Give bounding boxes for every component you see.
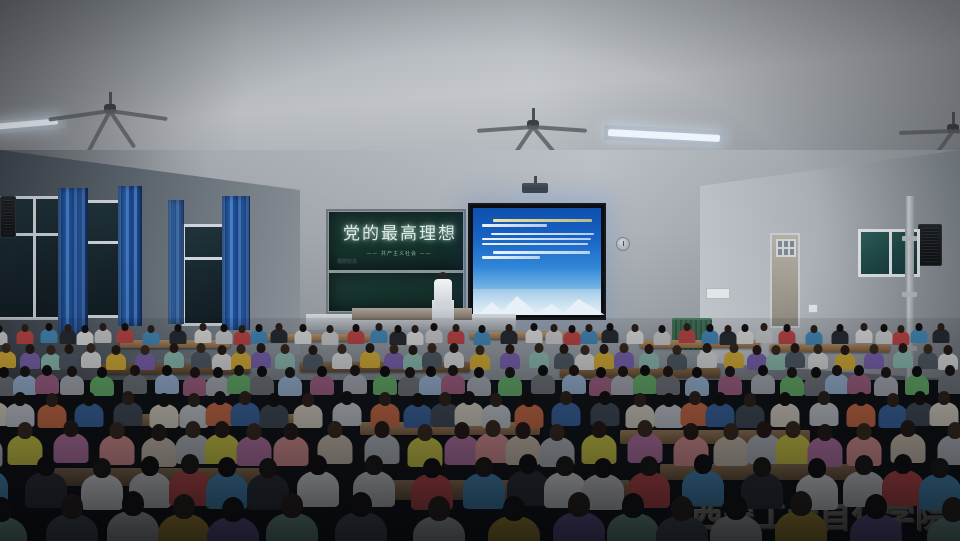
audience-member-torso [17, 330, 34, 344]
audience-member-torso [653, 331, 670, 345]
audience-member-head [772, 345, 781, 355]
audience-member [607, 493, 659, 541]
audience-member-head [453, 324, 460, 332]
audience-member-head [818, 424, 833, 441]
blackboard-title: 党的最高理想 [337, 226, 463, 243]
audience-member [488, 496, 540, 541]
lecturer-body [434, 279, 452, 306]
audience-member-head [899, 343, 908, 353]
audience-member-head [405, 367, 415, 378]
audience-member-head [855, 455, 873, 475]
audience-member-head [753, 457, 771, 477]
audience-member-head [338, 344, 347, 354]
slide-text-block [482, 219, 594, 261]
audience-member [525, 323, 542, 345]
audience-member-head [944, 345, 953, 355]
audience-member-torso [563, 331, 580, 345]
audience-member-head [141, 345, 150, 355]
audience-member-torso [40, 329, 57, 343]
audience-member-torso [407, 331, 424, 345]
audience-member-head [725, 366, 735, 377]
audience-member [932, 323, 949, 345]
audience-member-head [122, 391, 134, 405]
audience-member-torso [95, 329, 112, 343]
audience-member-head [26, 344, 35, 354]
audience-member [876, 324, 893, 346]
audience-member-torso [581, 330, 598, 344]
audience-member-torso [932, 329, 949, 343]
audience-member [656, 496, 708, 541]
audience-member-torso [626, 330, 643, 344]
audience-member-head [185, 421, 200, 438]
window-curtain [118, 186, 142, 326]
audience-member-torso [155, 374, 179, 394]
audience-member-head [162, 365, 172, 376]
audience-member-head [594, 458, 612, 478]
audience-member-head [761, 323, 768, 331]
audience-member-torso [552, 402, 581, 426]
audience-member [553, 492, 605, 541]
audience-member-head [706, 324, 713, 332]
audience-member-head [100, 323, 107, 331]
audience-member-head [256, 324, 263, 332]
audience-member-head [122, 323, 129, 331]
audience-member-head [423, 458, 441, 478]
audience-member-head [840, 345, 849, 355]
audience-member-head [870, 344, 879, 354]
lecture-hall-photo: 党的最高理想 —— 共产主义社会 —— 理想信念 [0, 0, 960, 541]
audience-member-head [912, 366, 922, 377]
audience-member-head [86, 343, 95, 353]
audience-member-head [818, 391, 830, 405]
audience-member [117, 323, 134, 345]
audience-member-head [894, 454, 912, 474]
audience-member-head [65, 324, 72, 332]
audience-member-head [519, 454, 537, 474]
audience-member-head [93, 458, 111, 478]
audience-member-head [534, 343, 543, 353]
audience-member-head [474, 367, 484, 378]
blackboard-subtitle: —— 共产主义社会 —— [329, 250, 469, 257]
audience-member-head [596, 367, 606, 378]
audience-member-head [64, 420, 79, 437]
audience-member [60, 324, 77, 346]
audience-member-head [634, 393, 646, 407]
audience-member-head [239, 391, 251, 405]
audience-member [633, 365, 657, 396]
audience-member-head [881, 367, 891, 378]
audience-member [425, 323, 442, 345]
audience-member [40, 323, 57, 345]
audience-member-torso [876, 330, 893, 344]
audience-member-head [418, 424, 433, 441]
audience-member-head [856, 423, 871, 440]
audience-member-head [523, 393, 535, 407]
audience-member-head [569, 365, 579, 376]
audience-member-head [837, 324, 844, 332]
audience-member [142, 325, 159, 347]
audience-member-head [380, 366, 390, 377]
audience-member [407, 325, 424, 347]
audience-member-head [887, 393, 899, 407]
audience-member-head [409, 345, 418, 355]
audience-member-head [45, 323, 52, 331]
audience-member-head [14, 392, 26, 406]
wall-speaker-right [918, 224, 942, 266]
lecturer [434, 272, 452, 306]
audience-member-head [673, 345, 682, 355]
audience-member-head [257, 343, 266, 353]
audience-member-head [694, 454, 712, 474]
audience-member [46, 494, 98, 541]
audience-member-head [122, 491, 144, 516]
audience-member-torso [191, 351, 211, 368]
audience-member-torso [251, 330, 268, 344]
audience-member-head [702, 343, 711, 353]
audience-member-head [350, 492, 372, 517]
audience-member-head [238, 325, 245, 333]
audience-member [371, 323, 388, 345]
audience-member [215, 324, 232, 346]
audience-member-head [268, 393, 280, 407]
audience-member-head [586, 324, 593, 332]
audience-member-head [341, 391, 353, 405]
audience-member-head [556, 456, 574, 476]
audience-member [413, 496, 465, 541]
audience-member-head [302, 393, 314, 407]
audience-member-torso [348, 330, 365, 344]
audience-member [158, 494, 210, 541]
audience-member-head [199, 323, 206, 331]
audience-member-head [173, 494, 195, 519]
audience-member-head [257, 366, 267, 377]
audience-member [191, 343, 211, 370]
audience-member-head [276, 323, 283, 331]
audience-member-head [188, 393, 200, 407]
audience-member [335, 492, 387, 541]
audience-member-head [308, 345, 317, 355]
audience-member-head [684, 323, 691, 331]
audience-member-head [855, 392, 867, 406]
audience-member-head [640, 456, 658, 476]
audience-member-head [779, 392, 791, 406]
audience-member-head [448, 365, 458, 376]
audience-member-torso [701, 330, 718, 344]
audience-member-head [215, 421, 230, 438]
audience-member-head [450, 343, 459, 353]
audience-member [785, 343, 805, 370]
wall-switch-panel [808, 304, 818, 313]
audience-member-head [463, 391, 475, 405]
audience-member-head [505, 367, 515, 378]
audience-member-head [476, 345, 485, 355]
audience-member-head [174, 324, 181, 332]
audience-member-head [213, 367, 223, 378]
audience-member-head [46, 393, 58, 407]
audience-member [850, 494, 902, 541]
audience-member [927, 497, 960, 541]
audience-member-head [18, 422, 33, 439]
audience-member-head [600, 344, 609, 354]
audience-member-head [640, 365, 650, 376]
audience-member-torso [169, 330, 186, 344]
audience-member-torso [633, 374, 657, 394]
audience-member-head [82, 325, 89, 333]
audience-member-head [366, 343, 375, 353]
audience-area [0, 318, 960, 541]
audience-member [107, 491, 159, 541]
audience-member-torso [856, 329, 873, 343]
audience-member-torso [474, 331, 491, 345]
audience-member-head [130, 365, 140, 376]
audience-member-head [220, 324, 227, 332]
audience-member-head [644, 344, 653, 354]
audience-member-head [881, 324, 888, 332]
audience-member-head [147, 325, 154, 333]
audience-member-head [786, 421, 801, 438]
audience-member-head [190, 367, 200, 378]
audience-member [295, 324, 312, 346]
audience-member-head [505, 344, 514, 354]
window-curtain [222, 196, 250, 330]
audience-member-head [218, 345, 227, 355]
ceiling-projector [522, 183, 548, 193]
audience-member-head [538, 365, 548, 376]
audience-member-head [412, 325, 419, 333]
wall-notice-box [706, 288, 730, 299]
audience-member-head [327, 421, 342, 438]
door-window-grid [776, 239, 796, 257]
audience-member-torso [697, 351, 717, 368]
audience-member-head [2, 343, 11, 353]
audience-member-head [854, 365, 864, 376]
audience-member-head [196, 343, 205, 353]
audience-member-head [942, 497, 960, 522]
audience-member-head [631, 324, 638, 332]
audience-member-head [663, 393, 675, 407]
audience-member-head [309, 455, 327, 475]
audience-member-head [581, 345, 590, 355]
audience-member-torso [847, 374, 871, 394]
audience-member-head [439, 392, 451, 406]
projected-slide [473, 208, 601, 315]
audience-member-head [37, 456, 55, 476]
classroom-door[interactable] [770, 233, 800, 328]
audience-member-head [568, 492, 590, 517]
audience-member-head [158, 393, 170, 407]
audience-member-head [752, 345, 761, 355]
audience-member-head [560, 344, 569, 354]
audience-member-head [283, 423, 298, 440]
audience-member-torso [194, 329, 211, 343]
audience-member-head [300, 324, 307, 332]
audience-member-head [516, 422, 531, 439]
audience-member-head [606, 323, 613, 331]
audience-member-head [237, 344, 246, 354]
audience-member-head [813, 344, 822, 354]
audience-member-head [46, 345, 55, 355]
audience-member-head [376, 323, 383, 331]
audience-member-head [725, 495, 747, 520]
audience-member-head [811, 367, 821, 378]
audience-member-head [923, 344, 932, 354]
audience-member-torso [60, 330, 77, 344]
audience-member-torso [751, 374, 775, 394]
audience-member-head [671, 496, 693, 521]
wall-speaker-left [0, 196, 16, 238]
audience-member-head [110, 422, 125, 439]
audience-member-head [170, 343, 179, 353]
audience-member-head [725, 325, 732, 333]
slide-mountain-image [473, 289, 601, 315]
audience-member-head [791, 343, 800, 353]
audience-member-head [551, 324, 558, 332]
audience-member-head [937, 323, 944, 331]
audience-member [832, 324, 849, 346]
audience-member-head [620, 343, 629, 353]
audience-member-head [861, 323, 868, 331]
audience-member [775, 491, 827, 541]
audience-member-head [638, 420, 653, 437]
audience-member-head [479, 325, 486, 333]
audience-member-head [486, 420, 501, 437]
audience-member [581, 324, 598, 346]
audience-member-head [151, 424, 166, 441]
audience-member-head [560, 391, 572, 405]
audience-member-torso [679, 329, 696, 343]
audience-member-head [181, 454, 199, 474]
projection-screen [468, 203, 606, 320]
audience-member-head [898, 325, 905, 333]
audience-member [194, 323, 211, 345]
audience-member-head [787, 367, 797, 378]
audience-member-head [938, 391, 950, 405]
audience-member-head [97, 367, 107, 378]
audience-member [756, 323, 773, 345]
audience-member-head [914, 391, 926, 405]
audience-member-head [42, 365, 52, 376]
audience-member-head [112, 345, 121, 355]
audience-member-head [530, 323, 537, 331]
audience-member-head [353, 324, 360, 332]
audience-member-head [475, 457, 493, 477]
audience-member-torso [233, 331, 250, 345]
audience-member-head [259, 458, 277, 478]
audience-member-head [83, 392, 95, 406]
audience-member-head [365, 455, 383, 475]
audience-member-head [428, 343, 437, 353]
audience-member-head [285, 367, 295, 378]
audience-member-torso [448, 330, 465, 344]
audience-member-head [916, 323, 923, 331]
audience-member-head [714, 392, 726, 406]
audience-member-torso [756, 329, 773, 343]
audience-member-head [503, 496, 525, 521]
audience-member-head [901, 420, 916, 437]
audience-member-torso [832, 330, 849, 344]
audience-member-head [931, 458, 949, 478]
audience-member-head [218, 457, 236, 477]
audience-member-head [65, 344, 74, 354]
audience-member-torso [35, 374, 59, 394]
audience-member-torso [805, 331, 822, 345]
audience-member-head [490, 393, 502, 407]
audience-member-head [234, 365, 244, 376]
audience-member-head [689, 391, 701, 405]
audience-member-head [214, 391, 226, 405]
audience-member-head [67, 366, 77, 377]
wall-clock [616, 237, 630, 251]
audience-member-head [744, 393, 756, 407]
audience-member-head [430, 323, 437, 331]
audience-member-torso [546, 330, 563, 344]
audience-member-head [742, 324, 749, 332]
audience-member-head [622, 493, 644, 518]
audience-member-head [756, 421, 771, 438]
audience-member [35, 365, 59, 396]
audience-member-head [246, 423, 261, 440]
audience-member-torso [295, 330, 312, 344]
audience-member [266, 493, 318, 541]
audience-member-head [281, 493, 303, 518]
audience-member-head [506, 324, 513, 332]
audience-member-torso [371, 329, 388, 343]
audience-member-head [618, 366, 628, 377]
audience-member-head [426, 366, 436, 377]
audience-member [271, 323, 288, 345]
audience-member [501, 324, 518, 346]
audience-member-head [141, 456, 159, 476]
audience-member-head [379, 392, 391, 406]
audience-member-torso [271, 329, 288, 343]
blackboard-upper-panel: 党的最高理想 —— 共产主义社会 —— 理想信念 [329, 212, 463, 270]
audience-member [697, 343, 717, 370]
window-curtain [58, 188, 88, 334]
audience-member-head [599, 391, 611, 405]
audience-member-torso [785, 351, 805, 368]
audience-member-torso [425, 329, 442, 343]
audience-member-head [692, 367, 702, 378]
audience-member-head [784, 324, 791, 332]
audience-member-head [350, 365, 360, 376]
audience-member [679, 323, 696, 345]
audience-member-head [790, 491, 812, 516]
audience-member-head [568, 325, 575, 333]
audience-member-head [683, 423, 698, 440]
audience-member-torso [601, 329, 618, 343]
audience-member-head [61, 494, 83, 519]
audience-member [474, 325, 491, 347]
audience-member-head [455, 422, 470, 439]
audience-member [155, 365, 179, 396]
audience-member-head [395, 325, 402, 333]
audience-member-torso [656, 375, 680, 395]
audience-member-head [810, 325, 817, 333]
audience-member-head [428, 496, 450, 521]
audience-member-head [945, 365, 955, 376]
audience-member-head [389, 344, 398, 354]
audience-member [207, 497, 259, 541]
audience-member [601, 323, 618, 345]
audience-member-head [663, 366, 673, 377]
audience-member-head [723, 423, 738, 440]
audience-member-torso [310, 375, 334, 395]
audience-member-head [591, 421, 606, 438]
audience-member-torso [525, 329, 542, 343]
blackboard-side-note: 理想信念 [337, 258, 357, 265]
audience-member-head [0, 367, 9, 378]
audience-member-head [20, 366, 30, 377]
